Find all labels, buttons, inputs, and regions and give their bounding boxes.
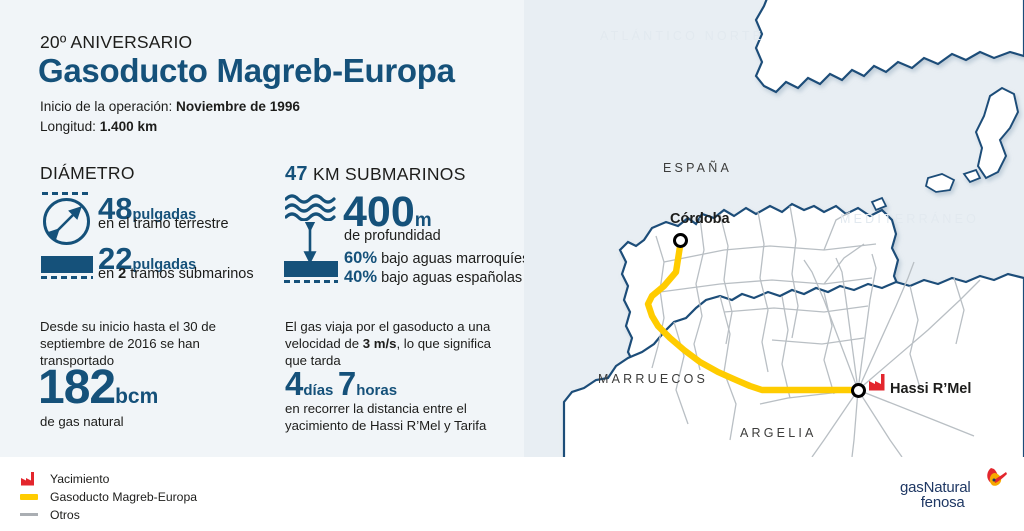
legend-label-yacimiento: Yacimiento [50, 472, 109, 486]
travel-days-unit: días [303, 382, 333, 399]
diameter-terrestrial-desc: en el tramo terrestre [98, 216, 229, 232]
page-title: Gasoducto Magreb-Europa [38, 52, 455, 90]
legend-item-yacimiento: Yacimiento [18, 470, 197, 487]
travel-intro: El gas viaja por el gasoducto a una velo… [285, 318, 505, 369]
legend-label-gasoducto: Gasoducto Magreb-Europa [50, 490, 197, 504]
seabed-bar-icon [284, 261, 338, 277]
left-content-panel: 20º ANIVERSARIO Gasoducto Magreb-Europa … [0, 0, 540, 531]
infographic-root: 20º ANIVERSARIO Gasoducto Magreb-Europa … [0, 0, 1024, 531]
waves-icon [285, 193, 337, 221]
dashed-line-icon-bottom [41, 276, 93, 279]
split-label-spain: bajo aguas españolas [381, 270, 522, 286]
split-pct-morocco: 60% [344, 249, 377, 267]
diameter-heading: DIÁMETRO [40, 163, 135, 184]
travel-days-number: 4 [285, 365, 303, 402]
transported-sub: de gas natural [40, 414, 124, 429]
operation-start-line: Inicio de la operación: Noviembre de 199… [40, 99, 300, 114]
submarine-heading-rest: KM SUBMARINOS [308, 164, 466, 184]
dashed-line-icon-top [42, 192, 91, 195]
travel-hours-unit: horas [356, 382, 397, 399]
travel-speed-value: 3 m/s [363, 336, 397, 351]
length-value: 1.400 km [100, 119, 157, 134]
submarine-km-number: 47 [285, 163, 308, 185]
depth-arrow-icon [300, 222, 320, 262]
travel-sub: en recorrer la distancia entre el yacimi… [285, 400, 510, 434]
city-marker-hassi-rmel[interactable] [851, 383, 866, 398]
split-label-morocco: bajo aguas marroquíes [381, 251, 529, 267]
legend-item-otros: Otros [18, 506, 197, 523]
split-row-spain: 40% bajo aguas españolas [344, 268, 522, 287]
diameter-22-desc-post: tramos submarinos [126, 266, 253, 282]
legend-item-gasoducto: Gasoducto Magreb-Europa [18, 488, 197, 505]
diameter-22-desc-pre: en [98, 266, 118, 282]
operation-start-value: Noviembre de 1996 [176, 99, 300, 114]
yellow-line-icon [18, 490, 40, 504]
split-pct-spain: 40% [344, 268, 377, 286]
travel-duration-row: 4días 7horas [285, 365, 397, 403]
transported-number: 182 [38, 361, 115, 414]
transported-unit: bcm [115, 385, 158, 408]
map-canvas [524, 0, 1024, 457]
map-legend: Yacimiento Gasoducto Magreb-Europa Otros [18, 470, 197, 524]
pipe-bar-icon [41, 256, 93, 273]
split-row-morocco: 60% bajo aguas marroquíes [344, 249, 529, 268]
length-label: Longitud: [40, 119, 96, 134]
submarine-heading: 47 KM SUBMARINOS [285, 163, 466, 186]
logo-line-2: fenosa [900, 495, 971, 510]
brand-logo: gasNatural fenosa [900, 480, 971, 510]
factory-icon [18, 472, 40, 486]
legend-label-otros: Otros [50, 508, 80, 522]
city-marker-cordoba[interactable] [673, 233, 688, 248]
operation-start-label: Inicio de la operación: [40, 99, 172, 114]
diameter-arrow-icon [43, 198, 90, 245]
diameter-submarine-desc: en 2 tramos submarinos [98, 266, 254, 282]
travel-hours-number: 7 [338, 365, 356, 402]
depth-desc: de profundidad [344, 228, 441, 244]
length-line: Longitud: 1.400 km [40, 119, 157, 134]
flame-butterfly-icon [978, 464, 1008, 499]
dashed-line-icon-seabed [284, 280, 338, 283]
transported-value-row: 182bcm [38, 360, 158, 415]
anniversary-label: 20º ANIVERSARIO [40, 32, 192, 53]
gray-line-icon [18, 508, 40, 522]
logo-line-1: gasNatural [900, 480, 971, 495]
map-vector [524, 0, 1024, 457]
factory-icon-hassi-rmel [869, 374, 888, 396]
